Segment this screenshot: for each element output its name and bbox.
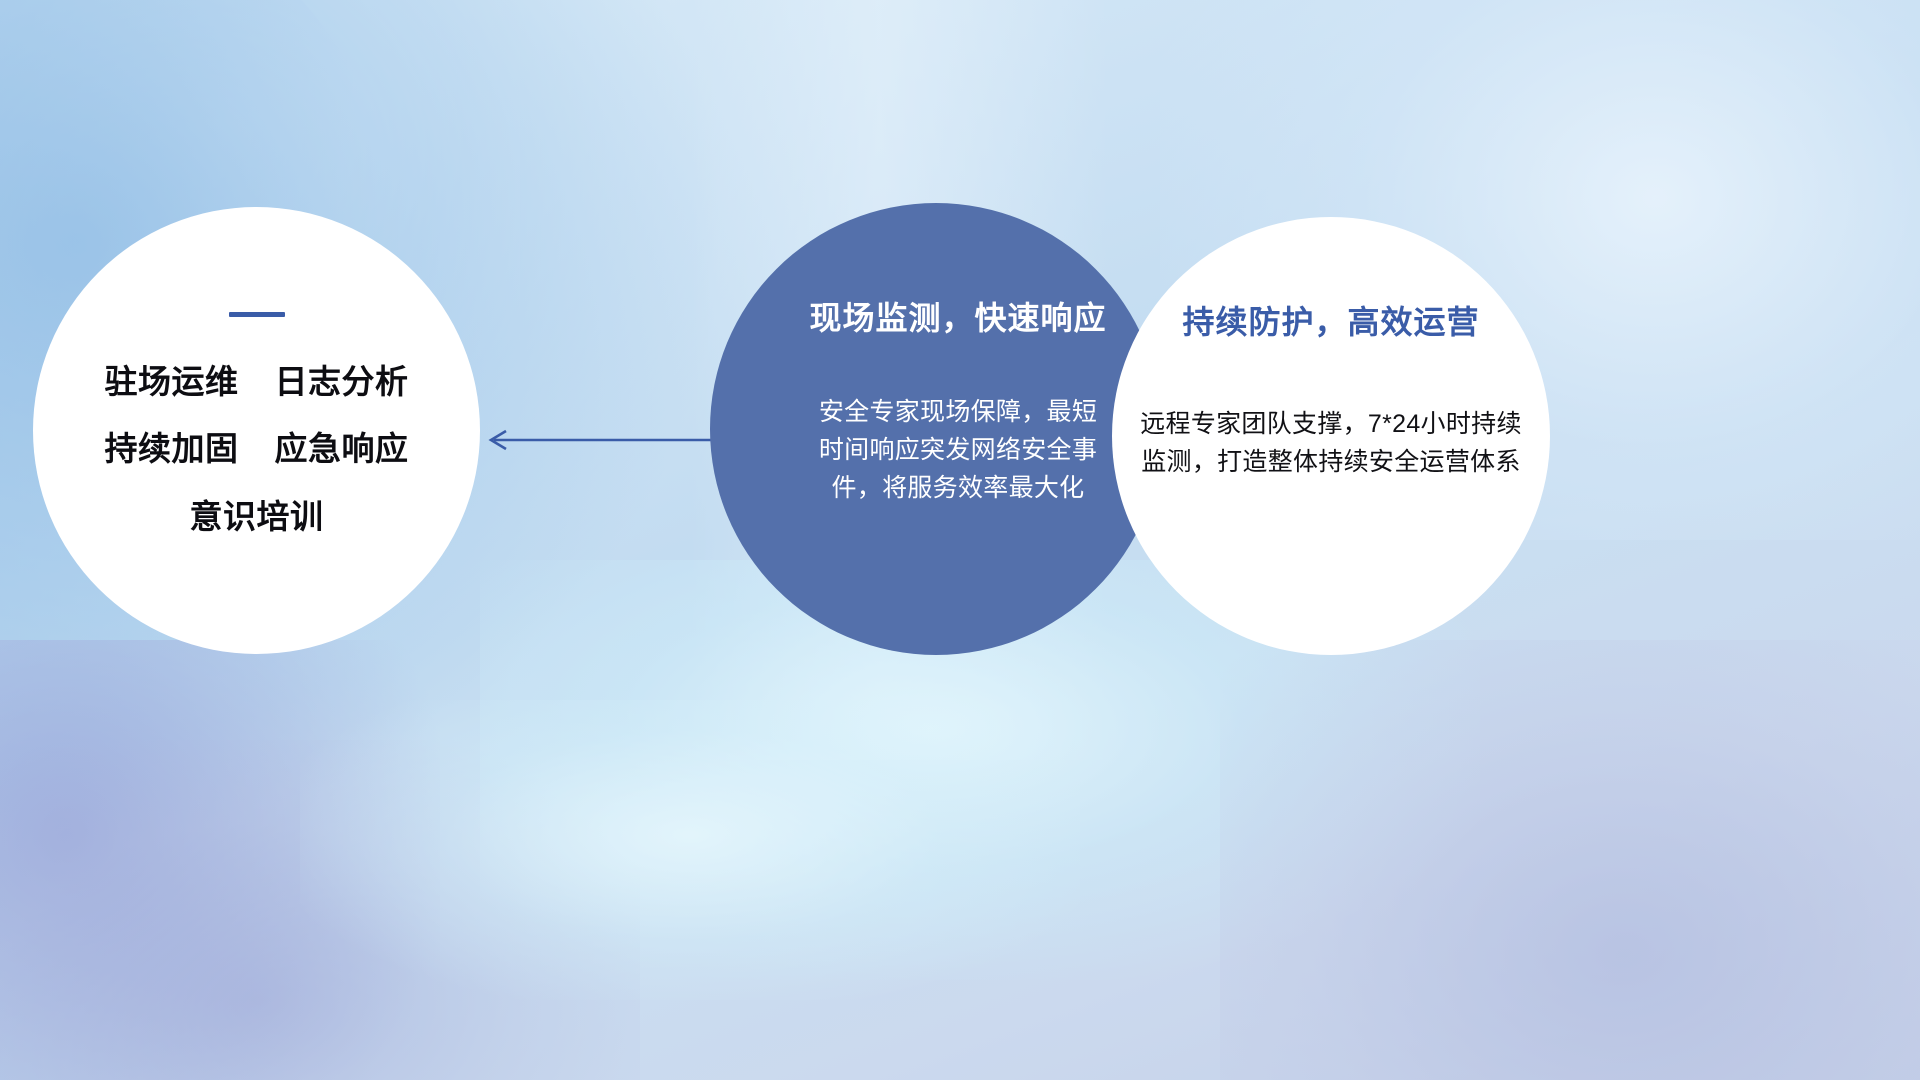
left-circle-tag-row: 意识培训: [190, 499, 324, 535]
middle-circle-content: 现场监测，快速响应 安全专家现场保障，最短时间响应突发网络安全事件，将服务效率最…: [710, 203, 1162, 655]
left-circle-tag: 日志分析: [275, 364, 409, 400]
flow-arrow-icon: [480, 415, 720, 465]
left-circle-tag-row: 持续加固 应急响应: [105, 431, 409, 467]
left-circle-tag: 驻场运维: [105, 364, 239, 400]
left-circle-tag: 持续加固: [105, 431, 239, 467]
left-circle-divider: [229, 312, 285, 317]
right-circle-body: 远程专家团队支撑，7*24小时持续监测，打造整体持续安全运营体系: [1136, 405, 1526, 481]
left-circle-content: 驻场运维 日志分析 持续加固 应急响应 意识培训: [33, 207, 480, 654]
middle-circle-body: 安全专家现场保障，最短时间响应突发网络安全事件，将服务效率最大化: [808, 393, 1108, 507]
right-circle-title: 持续防护，高效运营: [1182, 297, 1479, 343]
left-circle-tag: 意识培训: [190, 499, 324, 535]
left-circle-tag: 应急响应: [275, 431, 409, 467]
left-circle-tag-row: 驻场运维 日志分析: [105, 364, 409, 400]
diagram-stage: 驻场运维 日志分析 持续加固 应急响应 意识培训 现场监测，快速响应 安全专家现…: [0, 0, 1920, 1080]
right-circle-content: 持续防护，高效运营 远程专家团队支撑，7*24小时持续监测，打造整体持续安全运营…: [1112, 217, 1550, 655]
middle-circle-title: 现场监测，快速响应: [809, 293, 1106, 339]
